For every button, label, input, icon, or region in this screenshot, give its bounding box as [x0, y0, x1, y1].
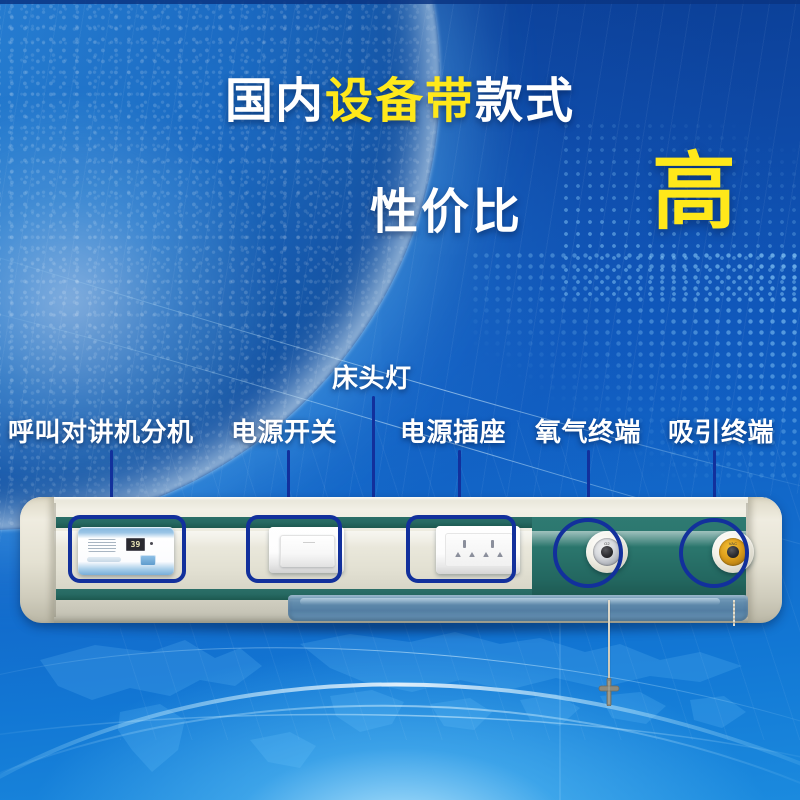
- callout-label-switch: 电源开关: [231, 412, 337, 449]
- intercom-display: 39: [126, 538, 145, 551]
- suction-terminal[interactable]: VAC: [712, 531, 754, 573]
- suction-terminal-ring: VAC: [719, 538, 747, 566]
- intercom-call-button[interactable]: [140, 555, 156, 566]
- power-switch-rocker[interactable]: [280, 535, 335, 567]
- power-socket[interactable]: [436, 526, 520, 574]
- socket-pin-b3: [497, 552, 503, 557]
- power-switch-mark: [303, 542, 315, 543]
- callout-label-suction: 吸引终端: [668, 412, 774, 449]
- oxygen-terminal-ring: O2: [593, 538, 621, 566]
- socket-pin-a3: [469, 552, 475, 557]
- panel-body: 39: [20, 497, 782, 623]
- headline-line-2: 性价比: [370, 172, 523, 242]
- socket-pin-a2: [455, 552, 461, 557]
- nurse-call-intercom[interactable]: 39: [78, 527, 174, 575]
- suction-drain-tube: [733, 600, 735, 626]
- socket-pin-b2: [483, 552, 489, 557]
- headline-seg-yellow: 设备带: [325, 75, 475, 128]
- callout-label-intercom: 呼叫对讲机分机: [8, 412, 194, 449]
- medical-bedhead-panel: 39: [20, 497, 782, 637]
- socket-pin-b1: [491, 540, 494, 548]
- panel-endcap-right: [748, 497, 782, 623]
- callout-label-socket: 电源插座: [400, 412, 506, 449]
- headline-emphasis-high: 高: [652, 150, 736, 234]
- oxygen-terminal-port: [601, 546, 613, 558]
- power-switch[interactable]: [269, 527, 344, 573]
- suction-terminal-port: [727, 546, 739, 558]
- headline-seg-white-b: 款式: [475, 75, 575, 128]
- headline-block: 国内设备带款式: [0, 78, 800, 126]
- callout-label-bedlamp: 床头灯: [332, 358, 412, 395]
- power-socket-face: [445, 533, 513, 567]
- intercom-indicator-led: [150, 542, 153, 545]
- pull-cord-handle[interactable]: [597, 678, 621, 706]
- intercom-label-slot: [87, 557, 121, 562]
- bed-head-lamp-gloss: [300, 598, 720, 605]
- panel-seam-left: [54, 503, 56, 617]
- oxygen-terminal[interactable]: O2: [586, 531, 628, 573]
- socket-pin-a1: [463, 540, 466, 548]
- headline-line-1: 国内设备带款式: [0, 78, 800, 126]
- intercom-speaker-grille: [88, 539, 116, 552]
- panel-endcap-left: [20, 497, 54, 623]
- lamp-pull-cord[interactable]: [608, 600, 610, 688]
- headline-seg-white-a: 国内: [225, 75, 325, 128]
- callout-label-oxygen: 氧气终端: [535, 412, 641, 449]
- top-edge-bar: [0, 0, 800, 4]
- promo-banner: 国内设备带款式 性价比 高 呼叫对讲机分机 电源开关 床头灯 电源插座 氧气终端…: [0, 0, 800, 800]
